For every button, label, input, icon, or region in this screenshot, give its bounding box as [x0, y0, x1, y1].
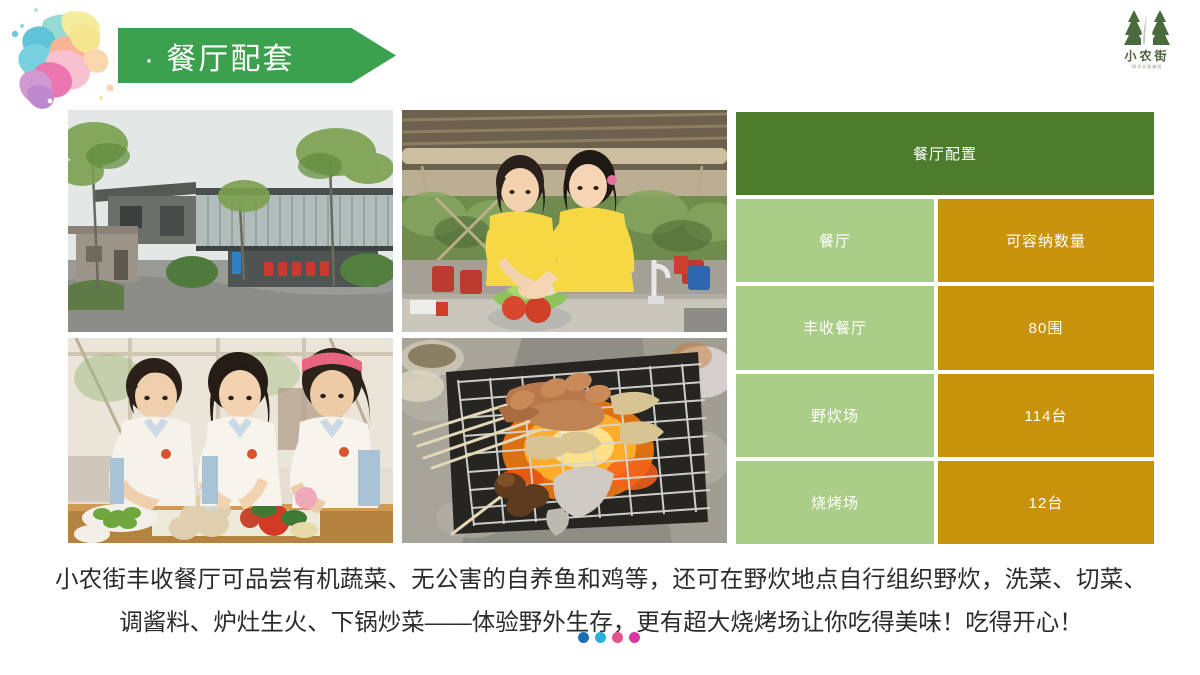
table-row: 烧烤场 12台: [736, 461, 1154, 544]
table-header-row: 餐厅 可容纳数量: [736, 199, 1154, 282]
cell-venue: 丰收餐厅: [736, 286, 934, 369]
dot-magenta: [629, 632, 640, 643]
table-row: 丰收餐厅 80围: [736, 286, 1154, 369]
photo-grid: [68, 110, 727, 543]
dot-cyan: [595, 632, 606, 643]
column-header-venue: 餐厅: [736, 199, 934, 282]
photo-restaurant-exterior: [68, 110, 393, 332]
decorative-dots: [578, 632, 640, 643]
table-title: 餐厅配置: [736, 112, 1154, 195]
table-row: 野炊场 114台: [736, 374, 1154, 457]
slide-canvas: · 餐厅配套 小农街 研学实践基地: [0, 0, 1200, 675]
photo-bbq-grill: [402, 338, 727, 543]
cell-venue: 野炊场: [736, 374, 934, 457]
dot-blue: [578, 632, 589, 643]
photo-children-cutting-vegetables: [68, 338, 393, 543]
pine-trees-icon: [1120, 8, 1174, 48]
cell-capacity: 12台: [938, 461, 1154, 544]
restaurant-capacity-table: 餐厅配置 餐厅 可容纳数量 丰收餐厅 80围 野炊场 114台 烧烤场 12台: [736, 112, 1154, 544]
column-header-capacity: 可容纳数量: [938, 199, 1154, 282]
section-title-banner: · 餐厅配套: [118, 28, 396, 83]
dot-pink: [612, 632, 623, 643]
logo-subtitle-text: 研学实践基地: [1110, 63, 1184, 69]
logo-name-text: 小农街: [1110, 49, 1184, 63]
cell-venue: 烧烤场: [736, 461, 934, 544]
cell-capacity: 80围: [938, 286, 1154, 369]
page-title: · 餐厅配套: [144, 28, 294, 83]
photo-children-washing-vegetables: [402, 110, 727, 332]
cell-capacity: 114台: [938, 374, 1154, 457]
watercolor-splash-icon: [6, 2, 128, 110]
brand-logo: 小农街 研学实践基地: [1110, 8, 1184, 70]
